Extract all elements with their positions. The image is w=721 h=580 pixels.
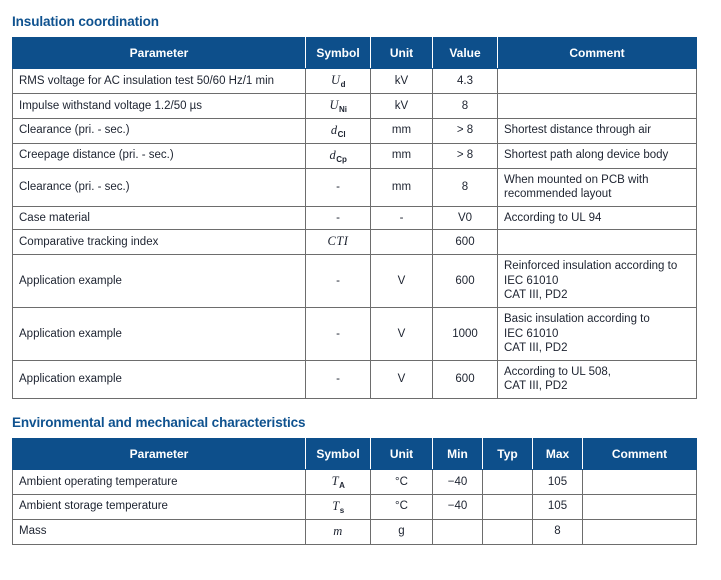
cell-parameter: Application example xyxy=(13,255,306,308)
cell-max: 105 xyxy=(533,469,583,494)
cell-unit: mm xyxy=(371,168,433,206)
column-header-min: Min xyxy=(433,438,483,469)
cell-unit: mm xyxy=(371,118,433,143)
cell-symbol: - xyxy=(306,255,371,308)
cell-symbol: Ts xyxy=(306,494,371,519)
cell-parameter: Mass xyxy=(13,519,306,544)
symbol-glyph: CTI xyxy=(328,234,349,248)
symbol-glyph: m xyxy=(333,524,343,538)
cell-value: > 8 xyxy=(433,143,498,168)
cell-min xyxy=(433,519,483,544)
cell-comment: Basic insulation according to IEC 61010 … xyxy=(498,307,697,360)
column-header-comment: Comment xyxy=(498,38,697,69)
cell-comment xyxy=(498,93,697,118)
cell-symbol: dCp xyxy=(306,143,371,168)
cell-comment: Shortest path along device body xyxy=(498,143,697,168)
symbol-none: - xyxy=(336,275,340,287)
cell-parameter: RMS voltage for AC insulation test 50/60… xyxy=(13,69,306,94)
table-row: Application example-V1000Basic insulatio… xyxy=(13,307,697,360)
cell-symbol: dCl xyxy=(306,118,371,143)
table-header-row: Parameter Symbol Unit Value Comment xyxy=(13,38,697,69)
cell-symbol: TA xyxy=(306,469,371,494)
section-title-environmental: Environmental and mechanical characteris… xyxy=(0,399,721,430)
column-header-parameter: Parameter xyxy=(13,38,306,69)
symbol-subscript: Ni xyxy=(339,105,347,114)
environmental-mechanical-table: Parameter Symbol Unit Min Typ Max Commen… xyxy=(12,438,697,545)
symbol-none: - xyxy=(336,181,340,193)
cell-max: 105 xyxy=(533,494,583,519)
cell-value: 1000 xyxy=(433,307,498,360)
table-row: Creepage distance (pri. - sec.)dCpmm> 8S… xyxy=(13,143,697,168)
cell-parameter: Ambient storage temperature xyxy=(13,494,306,519)
cell-unit: kV xyxy=(371,69,433,94)
column-header-value: Value xyxy=(433,38,498,69)
column-header-symbol: Symbol xyxy=(306,38,371,69)
cell-typ xyxy=(483,469,533,494)
table-row: Clearance (pri. - sec.)dClmm> 8Shortest … xyxy=(13,118,697,143)
cell-comment: According to UL 508, CAT III, PD2 xyxy=(498,360,697,398)
cell-symbol: UNi xyxy=(306,93,371,118)
insulation-coordination-table: Parameter Symbol Unit Value Comment RMS … xyxy=(12,37,697,399)
cell-comment xyxy=(583,519,697,544)
table-header-row: Parameter Symbol Unit Min Typ Max Commen… xyxy=(13,438,697,469)
column-header-parameter: Parameter xyxy=(13,438,306,469)
symbol-subscript: A xyxy=(339,481,345,490)
column-header-unit: Unit xyxy=(371,38,433,69)
symbol-glyph: Ud xyxy=(331,73,345,87)
table-row: Case material--V0According to UL 94 xyxy=(13,206,697,230)
symbol-none: - xyxy=(336,212,340,224)
cell-comment: Reinforced insulation according to IEC 6… xyxy=(498,255,697,308)
cell-parameter: Case material xyxy=(13,206,306,230)
cell-parameter: Creepage distance (pri. - sec.) xyxy=(13,143,306,168)
cell-symbol: - xyxy=(306,206,371,230)
cell-unit xyxy=(371,230,433,255)
symbol-none: - xyxy=(336,373,340,385)
symbol-glyph: dCp xyxy=(330,148,347,162)
cell-unit: kV xyxy=(371,93,433,118)
cell-unit: - xyxy=(371,206,433,230)
column-header-typ: Typ xyxy=(483,438,533,469)
symbol-subscript: Cl xyxy=(338,130,346,139)
cell-value: 4.3 xyxy=(433,69,498,94)
table-row: Ambient storage temperatureTs°C−40105 xyxy=(13,494,697,519)
cell-max: 8 xyxy=(533,519,583,544)
insulation-coordination-section: Insulation coordination Parameter Symbol… xyxy=(0,0,721,399)
table-row: Application example-V600Reinforced insul… xyxy=(13,255,697,308)
cell-value: 600 xyxy=(433,360,498,398)
cell-typ xyxy=(483,519,533,544)
cell-parameter: Application example xyxy=(13,307,306,360)
cell-symbol: CTI xyxy=(306,230,371,255)
table-row: Ambient operating temperatureTA°C−40105 xyxy=(13,469,697,494)
symbol-glyph: dCl xyxy=(331,123,345,137)
cell-symbol: Ud xyxy=(306,69,371,94)
table-row: RMS voltage for AC insulation test 50/60… xyxy=(13,69,697,94)
column-header-max: Max xyxy=(533,438,583,469)
cell-comment xyxy=(583,494,697,519)
cell-unit: V xyxy=(371,255,433,308)
cell-unit: °C xyxy=(371,494,433,519)
table-row: Application example-V600According to UL … xyxy=(13,360,697,398)
table-row: Comparative tracking indexCTI600 xyxy=(13,230,697,255)
section-title-insulation: Insulation coordination xyxy=(0,0,721,29)
cell-symbol: - xyxy=(306,168,371,206)
table-row: Massmg8 xyxy=(13,519,697,544)
symbol-glyph: UNi xyxy=(329,98,346,112)
symbol-subscript: d xyxy=(341,80,346,89)
cell-value: V0 xyxy=(433,206,498,230)
cell-value: 600 xyxy=(433,230,498,255)
symbol-subscript: Cp xyxy=(336,155,347,164)
cell-parameter: Application example xyxy=(13,360,306,398)
cell-parameter: Clearance (pri. - sec.) xyxy=(13,118,306,143)
symbol-subscript: s xyxy=(340,506,344,515)
cell-parameter: Comparative tracking index xyxy=(13,230,306,255)
cell-symbol: - xyxy=(306,360,371,398)
cell-parameter: Clearance (pri. - sec.) xyxy=(13,168,306,206)
cell-unit: mm xyxy=(371,143,433,168)
cell-min: −40 xyxy=(433,494,483,519)
cell-unit: g xyxy=(371,519,433,544)
table-row: Clearance (pri. - sec.)-mm8When mounted … xyxy=(13,168,697,206)
table-row: Impulse withstand voltage 1.2/50 µsUNikV… xyxy=(13,93,697,118)
cell-value: 8 xyxy=(433,93,498,118)
column-header-symbol: Symbol xyxy=(306,438,371,469)
datasheet-page: Insulation coordination Parameter Symbol… xyxy=(0,0,721,580)
cell-value: 8 xyxy=(433,168,498,206)
cell-parameter: Ambient operating temperature xyxy=(13,469,306,494)
cell-unit: °C xyxy=(371,469,433,494)
symbol-glyph: TA xyxy=(332,474,345,488)
cell-parameter: Impulse withstand voltage 1.2/50 µs xyxy=(13,93,306,118)
cell-comment xyxy=(498,230,697,255)
cell-symbol: m xyxy=(306,519,371,544)
cell-value: 600 xyxy=(433,255,498,308)
column-header-comment: Comment xyxy=(583,438,697,469)
cell-comment: Shortest distance through air xyxy=(498,118,697,143)
symbol-none: - xyxy=(336,328,340,340)
cell-comment: When mounted on PCB with recommended lay… xyxy=(498,168,697,206)
cell-unit: V xyxy=(371,360,433,398)
cell-min: −40 xyxy=(433,469,483,494)
cell-value: > 8 xyxy=(433,118,498,143)
cell-unit: V xyxy=(371,307,433,360)
column-header-unit: Unit xyxy=(371,438,433,469)
cell-symbol: - xyxy=(306,307,371,360)
environmental-mechanical-section: Environmental and mechanical characteris… xyxy=(0,399,721,545)
cell-typ xyxy=(483,494,533,519)
cell-comment xyxy=(583,469,697,494)
cell-comment xyxy=(498,69,697,94)
symbol-glyph: Ts xyxy=(332,499,343,513)
cell-comment: According to UL 94 xyxy=(498,206,697,230)
